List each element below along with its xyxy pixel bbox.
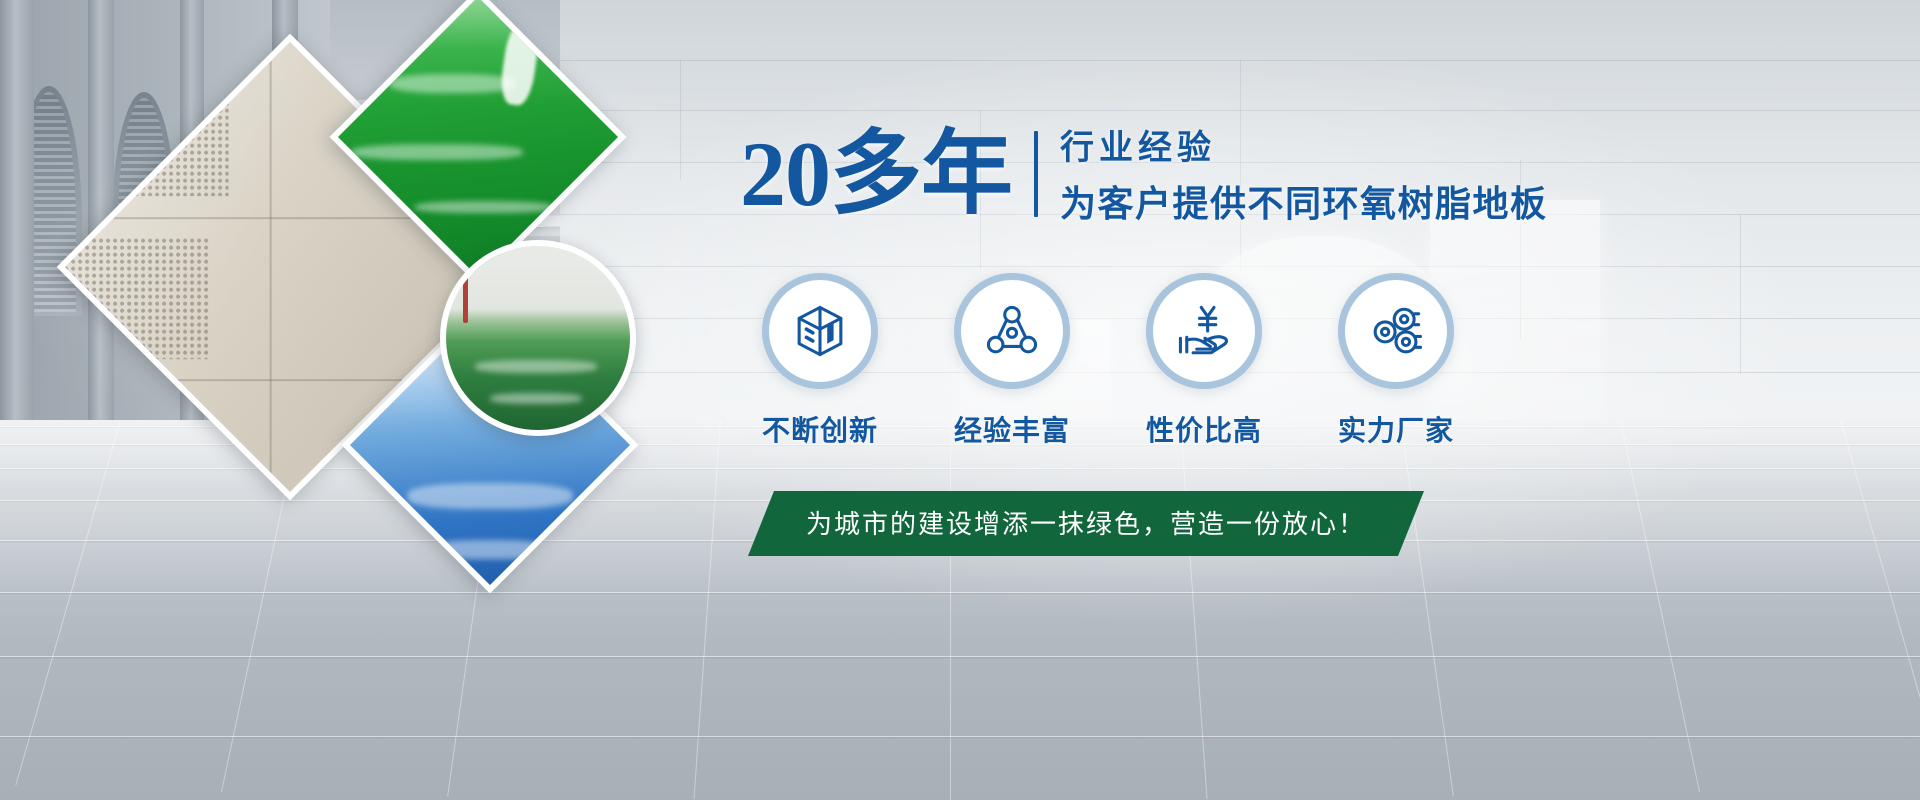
tagline-ribbon-wrapper: 为城市的建设增添一抹绿色，营造一份放心！ <box>740 491 1860 556</box>
feature-label: 性价比高 <box>1146 409 1262 449</box>
photo-collage <box>85 10 725 650</box>
headline-sub-line1: 行业经验 <box>1060 120 1548 169</box>
feature-item-experience[interactable]: 经验丰富 <box>938 273 1086 449</box>
feature-label: 不断创新 <box>762 409 878 449</box>
feature-label: 经验丰富 <box>954 409 1070 449</box>
feature-icon-circle <box>1338 273 1454 389</box>
cube-box-icon <box>791 302 849 360</box>
molecule-team-icon <box>983 302 1041 360</box>
green-epoxy-corridor-photo <box>440 240 636 436</box>
feature-icon-circle <box>762 273 878 389</box>
headline-subtext: 行业经验 为客户提供不同环氧树脂地板 <box>1060 120 1548 227</box>
material-rolls-icon <box>1367 302 1425 360</box>
hero-banner: 20多年 行业经验 为客户提供不同环氧树脂地板 <box>0 0 1920 800</box>
feature-label: 实力厂家 <box>1338 409 1454 449</box>
headline-divider <box>1034 131 1038 217</box>
feature-item-manufacturer[interactable]: 实力厂家 <box>1322 273 1470 449</box>
headline-block: 20多年 行业经验 为客户提供不同环氧树脂地板 <box>740 120 1860 227</box>
tagline-ribbon: 为城市的建设增添一抹绿色，营造一份放心！ <box>748 491 1424 556</box>
years-headline: 20多年 <box>740 128 1012 220</box>
feature-item-innovation[interactable]: 不断创新 <box>746 273 894 449</box>
headline-sub-line2: 为客户提供不同环氧树脂地板 <box>1060 175 1548 227</box>
feature-item-value[interactable]: 性价比高 <box>1130 273 1278 449</box>
feature-icon-circle <box>1146 273 1262 389</box>
feature-icon-circle <box>954 273 1070 389</box>
banner-content: 20多年 行业经验 为客户提供不同环氧树脂地板 <box>740 120 1860 556</box>
hand-yen-coin-icon <box>1175 302 1233 360</box>
feature-list: 不断创新 经验丰富 <box>740 273 1860 449</box>
